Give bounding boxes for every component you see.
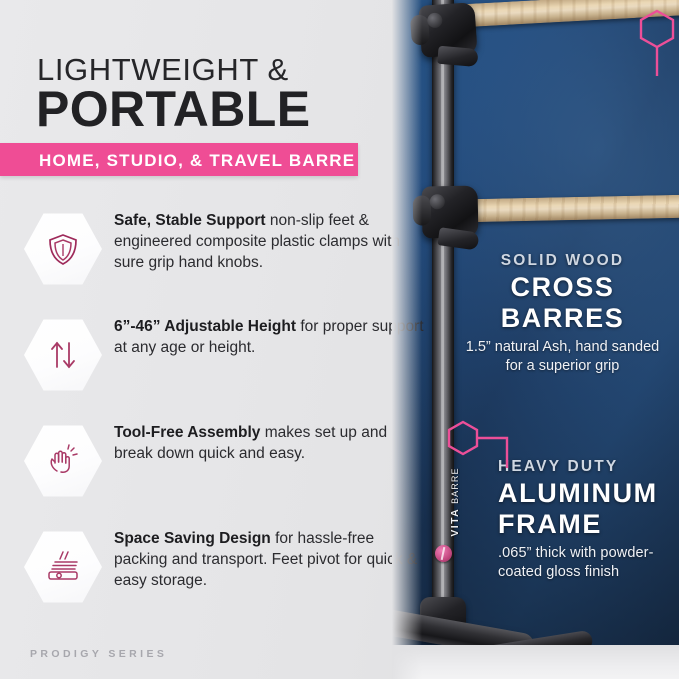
- hexagon-pointer-cross-barres: [634, 8, 679, 78]
- product-brand-text: VITA BARRE: [449, 457, 461, 547]
- hexagon-line-icon: [634, 8, 679, 78]
- hand-knob-icon: [430, 194, 445, 209]
- feature-item: Tool-Free Assembly makes set up and brea…: [24, 418, 424, 514]
- callout-kicker: SOLID WOOD: [460, 252, 665, 270]
- brand-secondary: BARRE: [450, 467, 460, 504]
- callout-title-line2: BARRES: [460, 304, 665, 332]
- feature-title: Tool-Free Assembly: [114, 424, 260, 441]
- feature-item: Space Saving Design for hassle-free pack…: [24, 524, 424, 620]
- brand-logo-icon: [435, 545, 452, 562]
- hexagon-pointer-aluminum-frame: [447, 420, 527, 470]
- waving-hand-icon: [45, 443, 81, 479]
- callout-body: .065” thick with powder-coated gloss fin…: [498, 544, 674, 583]
- hand-knob-icon: [427, 12, 443, 28]
- panel-left-fade: [392, 0, 422, 679]
- feature-icon-hexagon: [24, 212, 102, 286]
- hexagon-line-icon: [447, 420, 527, 470]
- subtitle-banner: HOME, STUDIO, & TRAVEL BARRE: [0, 143, 358, 176]
- up-down-arrows-icon: [45, 337, 81, 373]
- feature-title: 6”-46” Adjustable Height: [114, 318, 296, 335]
- subtitle-banner-label: HOME, STUDIO, & TRAVEL BARRE: [39, 151, 355, 171]
- shield-icon: [45, 231, 81, 267]
- feature-list: Safe, Stable Support non-slip feet & eng…: [24, 206, 424, 630]
- feature-item: Safe, Stable Support non-slip feet & eng…: [24, 206, 424, 302]
- callout-body: 1.5” natural Ash, hand sanded for a supe…: [460, 338, 665, 377]
- stacked-bars-icon: [44, 550, 82, 584]
- feature-title: Space Saving Design: [114, 530, 271, 547]
- feature-title: Safe, Stable Support: [114, 212, 266, 229]
- feature-text: 6”-46” Adjustable Height for proper supp…: [114, 312, 424, 358]
- feature-text: Tool-Free Assembly makes set up and brea…: [114, 418, 424, 464]
- feature-icon-hexagon: [24, 424, 102, 498]
- callout-cross-barres: SOLID WOOD CROSS BARRES 1.5” natural Ash…: [460, 252, 665, 377]
- page-title-line2: PORTABLE: [36, 84, 311, 134]
- series-label: PRODIGY SERIES: [30, 648, 167, 660]
- callout-title-line2: FRAME: [498, 510, 674, 538]
- post-highlight: [441, 0, 444, 640]
- infographic-canvas: VITA BARRE SOLID WOOD CROSS BARRES: [0, 0, 679, 679]
- callout-title-line1: CROSS: [460, 273, 665, 301]
- callout-title-line1: ALUMINUM: [498, 479, 674, 507]
- brand-primary: VITA: [449, 508, 461, 536]
- feature-icon-hexagon: [24, 530, 102, 604]
- feature-item: 6”-46” Adjustable Height for proper supp…: [24, 312, 424, 408]
- floor-surface: [392, 645, 679, 679]
- feature-text: Safe, Stable Support non-slip feet & eng…: [114, 206, 424, 273]
- barre-clamp-middle: [422, 186, 479, 239]
- callout-aluminum-frame: HEAVY DUTY ALUMINUM FRAME .065” thick wi…: [498, 458, 674, 583]
- barre-clamp-top: [418, 2, 477, 58]
- feature-icon-hexagon: [24, 318, 102, 392]
- feature-text: Space Saving Design for hassle-free pack…: [114, 524, 424, 591]
